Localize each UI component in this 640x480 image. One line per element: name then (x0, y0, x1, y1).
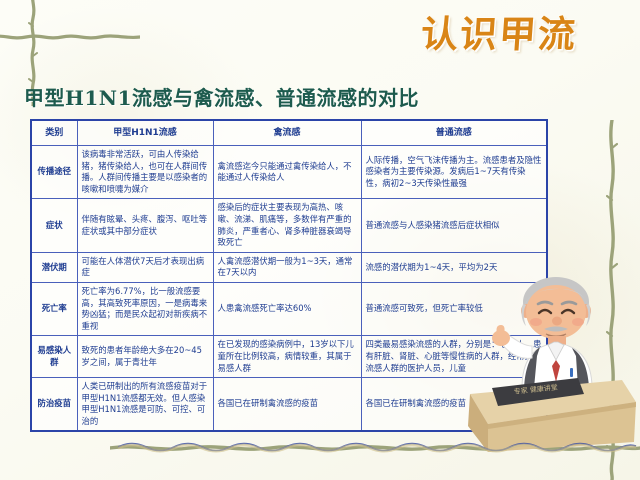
vine-decoration-top (0, 32, 140, 42)
presentation-slide: 认识甲流 甲型H1N1流感与禽流感、普通流感的对比 类别 甲型H1N1流感 禽流… (0, 0, 640, 480)
row-category-label: 防治疫苗 (31, 378, 77, 432)
cell-normal-flu: 普通流感可致死，但死亡率较低 (361, 282, 547, 335)
row-category-label: 症状 (31, 199, 77, 252)
cell-h1n1: 伴随有眩晕、头疼、腹泻、呕吐等症状或其中部分症状 (77, 199, 213, 252)
table-row: 易感染人群 致死的患者年龄绝大多在20~45岁之间，属于青壮年 在已发现的感染病… (31, 336, 547, 378)
vine-decoration-bottom (110, 442, 640, 454)
cell-bird-flu: 人患禽流感死亡率达60% (213, 282, 361, 335)
cell-normal-flu: 流感的潜伏期为1~4天，平均为2天 (361, 252, 547, 282)
table-header-row: 类别 甲型H1N1流感 禽流感 普通流感 (31, 120, 547, 146)
row-category-label: 易感染人群 (31, 336, 77, 378)
column-header-normal-flu: 普通流感 (361, 120, 547, 146)
table-row: 传播途径 该病毒非常活跃，可由人传染给猪，猪传染给人，也可在人群间传播。人群间传… (31, 146, 547, 199)
row-category-label: 死亡率 (31, 282, 77, 335)
slide-subtitle: 甲型H1N1流感与禽流感、普通流感的对比 (24, 82, 419, 111)
title-block: 认识甲流 (384, 16, 614, 53)
cell-bird-flu: 禽流感迄今只能通过禽传染给人，不能通过人传染给人 (213, 146, 361, 199)
cell-bird-flu: 感染后的症状主要表现为高热、咳嗽、流涕、肌痛等，多数伴有严重的肺炎，严重者心、肾… (213, 199, 361, 252)
vine-decoration-right (606, 120, 618, 480)
column-header-bird-flu: 禽流感 (213, 120, 361, 146)
cell-h1n1: 该病毒非常活跃，可由人传染给猪，猪传染给人，也可在人群间传播。人群间传播主要是以… (77, 146, 213, 199)
table-row: 死亡率 死亡率为6.77%，比一般流感要高，其高致死率原因，一是病毒来势凶猛；而… (31, 282, 547, 335)
cell-bird-flu: 各国已在研制禽流感的疫苗 (213, 378, 361, 432)
column-header-h1n1: 甲型H1N1流感 (77, 120, 213, 146)
cell-normal-flu: 四类最易感染流感的人群，分别是：老年人，患有肝脏、肾脏、心脏等慢性病的人群，经常… (361, 336, 547, 378)
cell-bird-flu: 在已发现的感染病例中，13岁以下儿童所在比例较高，病情较重，其属于易感人群 (213, 336, 361, 378)
cell-normal-flu: 普通流感与人感染猪流感后症状相似 (361, 199, 547, 252)
cell-normal-flu: 人际传播，空气飞沫传播为主。流感患者及隐性感染者为主要传染源。发病后1~7天有传… (361, 146, 547, 199)
bottom-wave-accent (118, 439, 640, 453)
row-category-label: 传播途径 (31, 146, 77, 199)
table-row: 防治疫苗 人类已研制出的所有流感疫苗对于甲型H1N1流感都无效。但人感染甲型H1… (31, 378, 547, 432)
cell-bird-flu: 人禽流感潜伏期一般为1~3天，通常在7天以内 (213, 252, 361, 282)
cell-normal-flu: 各国已在研制禽流感的疫苗 (361, 378, 547, 432)
comparison-table: 类别 甲型H1N1流感 禽流感 普通流感 传播途径 该病毒非常活跃，可由人传染给… (30, 119, 548, 432)
cell-h1n1: 死亡率为6.77%，比一般流感要高，其高致死率原因，一是病毒来势凶猛；而是民众起… (77, 282, 213, 335)
column-header-category: 类别 (31, 120, 77, 146)
slide-title: 认识甲流 (383, 16, 616, 53)
table-row: 潜伏期 可能在人体潜伏7天后才表现出病症 人禽流感潜伏期一般为1~3天，通常在7… (31, 252, 547, 282)
cell-h1n1: 致死的患者年龄绝大多在20~45岁之间，属于青壮年 (77, 336, 213, 378)
row-category-label: 潜伏期 (31, 252, 77, 282)
table-row: 症状 伴随有眩晕、头疼、腹泻、呕吐等症状或其中部分症状 感染后的症状主要表现为高… (31, 199, 547, 252)
cell-h1n1: 可能在人体潜伏7天后才表现出病症 (77, 252, 213, 282)
cell-h1n1: 人类已研制出的所有流感疫苗对于甲型H1N1流感都无效。但人感染甲型H1N1流感是… (77, 378, 213, 432)
